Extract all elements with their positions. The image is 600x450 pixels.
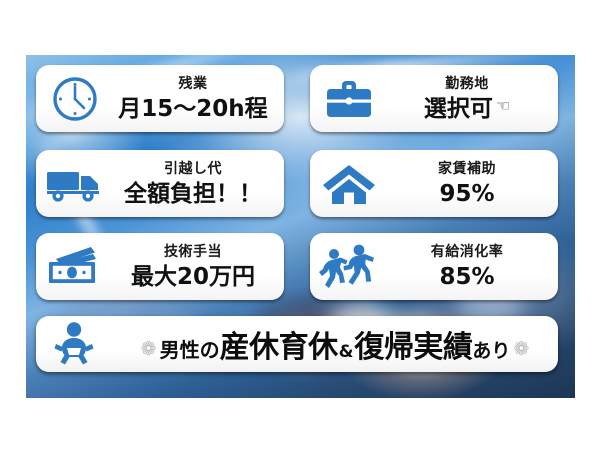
info-banner-paternity-leave: ❁ 男性の 産休育休 & 復帰実績 あり ❁ — [36, 316, 558, 372]
card-text: 勤務地 選択可 ☜ — [388, 77, 558, 121]
moving-truck-icon — [36, 162, 114, 206]
banner-ampersand: & — [338, 342, 355, 362]
infographic-stage: 残業 月15〜20h程 勤務地 選択可 ☜ — [0, 0, 600, 450]
house-icon — [310, 161, 388, 207]
banknote-icon — [36, 245, 114, 289]
info-card-worklocation: 勤務地 選択可 ☜ — [310, 65, 558, 132]
flower-icon-left: ❁ — [138, 338, 160, 360]
briefcase-icon — [310, 75, 388, 123]
flower-icon-right: ❁ — [510, 338, 532, 360]
card-caption: 引越し代 — [164, 162, 222, 176]
card-value-text: 選択可 — [424, 98, 493, 121]
card-value: 95% — [439, 183, 494, 206]
info-card-rentsubsidy: 家賃補助 95% — [310, 150, 558, 217]
card-text: 引越し代 全額負担！！ — [114, 162, 284, 206]
two-dancing-people-icon — [310, 243, 388, 291]
info-card-movingcost: 引越し代 全額負担！！ — [36, 150, 284, 217]
card-caption: 家賃補助 — [438, 162, 496, 176]
card-value: 選択可 ☜ — [424, 98, 510, 121]
card-text: 残業 月15〜20h程 — [114, 77, 284, 121]
card-value: 全額負担！！ — [124, 183, 262, 206]
card-value: 最大20万円 — [131, 266, 255, 289]
card-value: 月15〜20h程 — [118, 98, 267, 121]
info-card-techallowance: 技術手当 最大20万円 — [36, 233, 284, 300]
baby-icon — [50, 320, 112, 368]
banner-text: ❁ 男性の 産休育休 & 復帰実績 あり ❁ — [112, 322, 558, 366]
banner-lead: 男性の — [160, 334, 220, 363]
banner-highlight-1: 産休育休 — [220, 322, 338, 366]
banner-highlight-2: 復帰実績 — [354, 322, 472, 366]
card-value: 85% — [439, 266, 494, 289]
card-caption: 技術手当 — [164, 245, 222, 259]
card-text: 技術手当 最大20万円 — [114, 245, 284, 289]
card-caption: 有給消化率 — [431, 245, 504, 259]
clock-icon — [36, 74, 114, 124]
card-caption: 勤務地 — [445, 77, 489, 91]
card-text: 家賃補助 95% — [388, 162, 558, 206]
info-card-overtime: 残業 月15〜20h程 — [36, 65, 284, 132]
card-caption: 残業 — [179, 77, 208, 91]
pointing-hand-icon: ☜ — [496, 98, 510, 114]
banner-tail: あり — [472, 336, 510, 363]
info-card-paidleave: 有給消化率 85% — [310, 233, 558, 300]
card-text: 有給消化率 85% — [388, 245, 558, 289]
